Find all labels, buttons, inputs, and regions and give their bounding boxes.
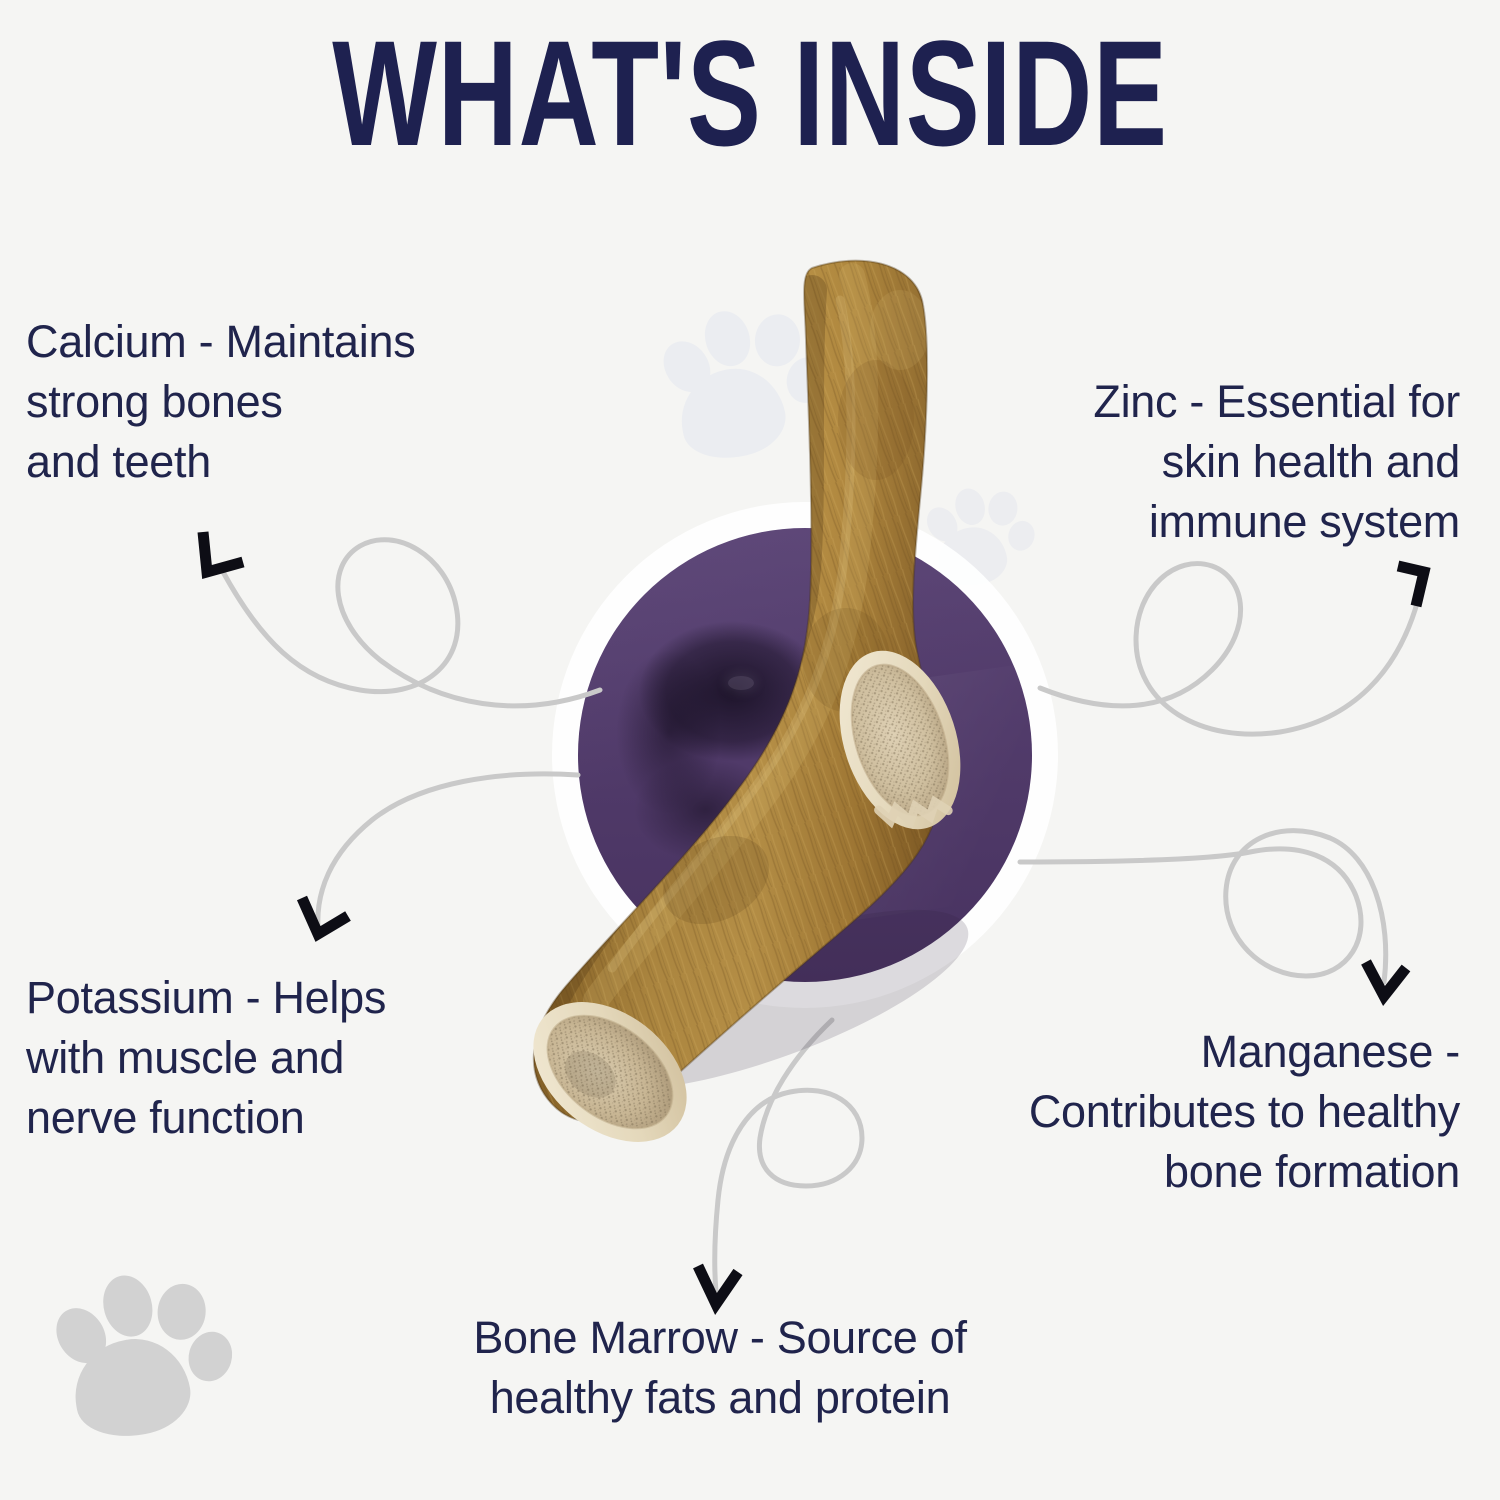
label-calcium: Calcium - Maintains strong bones and tee…	[26, 312, 586, 492]
arrow-head-manganese	[1366, 962, 1406, 996]
purple-backdrop-circle	[578, 528, 1032, 982]
label-potassium: Potassium - Helps with muscle and nerve …	[26, 968, 546, 1148]
arrow-head-zinc	[1398, 566, 1424, 606]
paw-print-icon	[40, 1247, 260, 1467]
paw-print-icon	[645, 284, 846, 481]
arrow-curve-potassium	[318, 774, 578, 928]
infographic-page: WHAT'S INSIDE .acurve { fill:n	[0, 0, 1500, 1500]
arrow-head-potassium	[302, 898, 348, 934]
arrow-curve-bone-marrow	[715, 1020, 862, 1292]
page-title: WHAT'S INSIDE	[195, 18, 1305, 168]
arrow-curve-calcium	[222, 540, 600, 706]
circle-sheen	[787, 661, 1032, 925]
arrow-curve-manganese	[1020, 831, 1386, 982]
arrow-head-bone-marrow	[698, 1266, 738, 1304]
label-zinc: Zinc - Essential for skin health and imm…	[960, 372, 1460, 552]
label-manganese: Manganese - Contributes to healthy bone …	[880, 1022, 1460, 1202]
arrow-curve-zinc	[1040, 564, 1418, 735]
arrow-head-calcium	[203, 532, 243, 572]
label-bone-marrow: Bone Marrow - Source of healthy fats and…	[350, 1308, 1090, 1428]
dog-eye-highlight	[728, 676, 754, 690]
